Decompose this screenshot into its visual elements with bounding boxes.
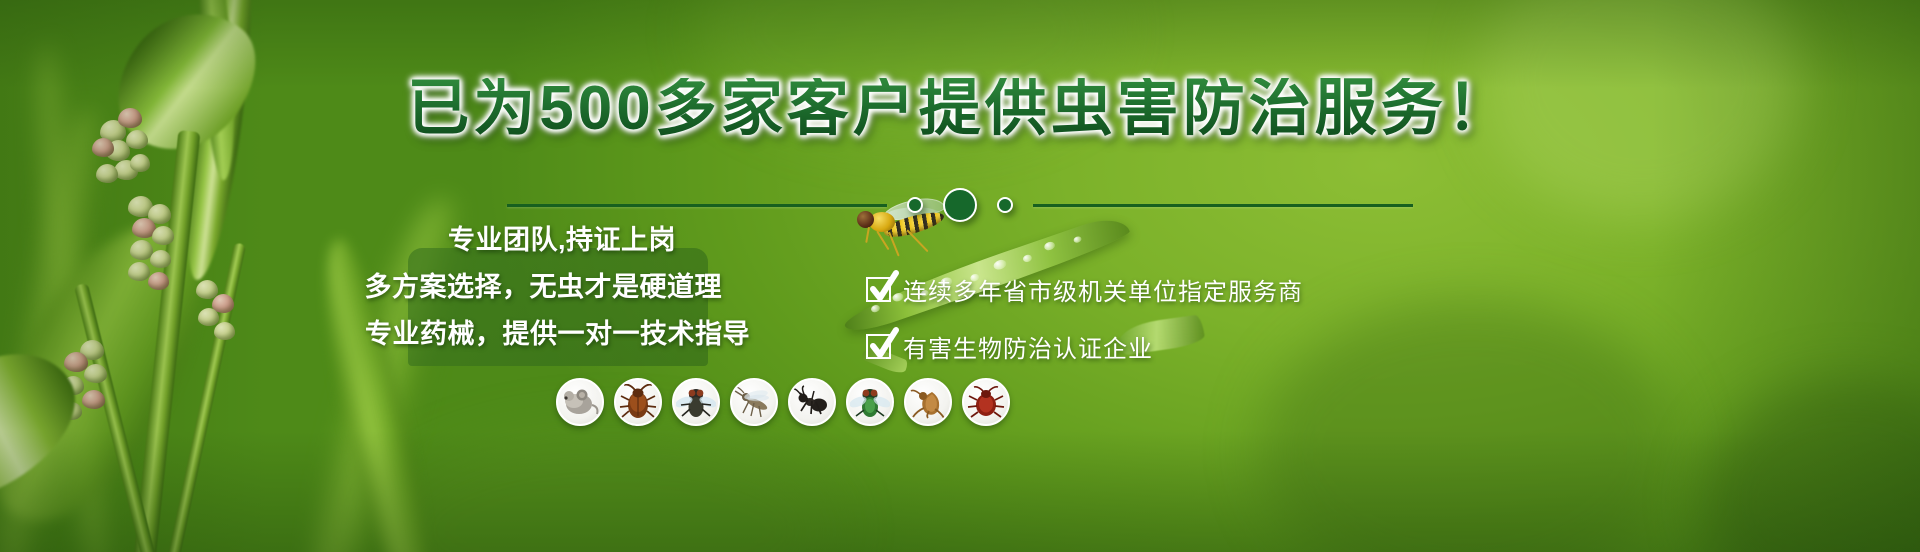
cockroach-icon (614, 378, 662, 426)
fly-icon (672, 378, 720, 426)
selling-points-text: 专业团队,持证上岗 多方案选择，无虫才是硬道理 专业药械，提供一对一技术指导 (330, 218, 750, 351)
decorative-divider (0, 188, 1920, 222)
flea-icon (904, 378, 952, 426)
list-item: 连续多年省市级机关单位指定服务商 (866, 272, 1303, 307)
list-item-label: 连续多年省市级机关单位指定服务商 (903, 272, 1303, 307)
checkbox-checked-icon (866, 334, 891, 359)
divider-rule-left (507, 204, 887, 207)
page-title: 已为500多家客户提供虫害防治服务！ (0, 78, 1920, 140)
list-item: 有害生物防治认证企业 (866, 329, 1303, 364)
divider-dot-small-left (907, 197, 923, 213)
list-item-label: 有害生物防治认证企业 (903, 329, 1153, 364)
pest-control-hero-banner: 已为500多家客户提供虫害防治服务！ 专业团队,持证上岗 多方案选择，无虫才是硬… (0, 0, 1920, 552)
selling-point-line-2: 多方案选择，无虫才是硬道理 (365, 265, 723, 304)
mosquito-icon (730, 378, 778, 426)
mouse-icon (556, 378, 604, 426)
bedbug-icon (962, 378, 1010, 426)
blowfly-icon (846, 378, 894, 426)
ant-icon (788, 378, 836, 426)
selling-point-line-1: 专业团队,持证上岗 (448, 218, 676, 257)
divider-rule-right (1033, 204, 1413, 207)
divider-dot-large (943, 188, 977, 222)
pest-icon-row (556, 378, 1010, 426)
divider-dot-small-right (997, 197, 1013, 213)
credentials-checklist: 连续多年省市级机关单位指定服务商 有害生物防治认证企业 (866, 272, 1303, 364)
selling-point-line-3: 专业药械，提供一对一技术指导 (365, 312, 750, 351)
checkbox-checked-icon (866, 277, 891, 302)
